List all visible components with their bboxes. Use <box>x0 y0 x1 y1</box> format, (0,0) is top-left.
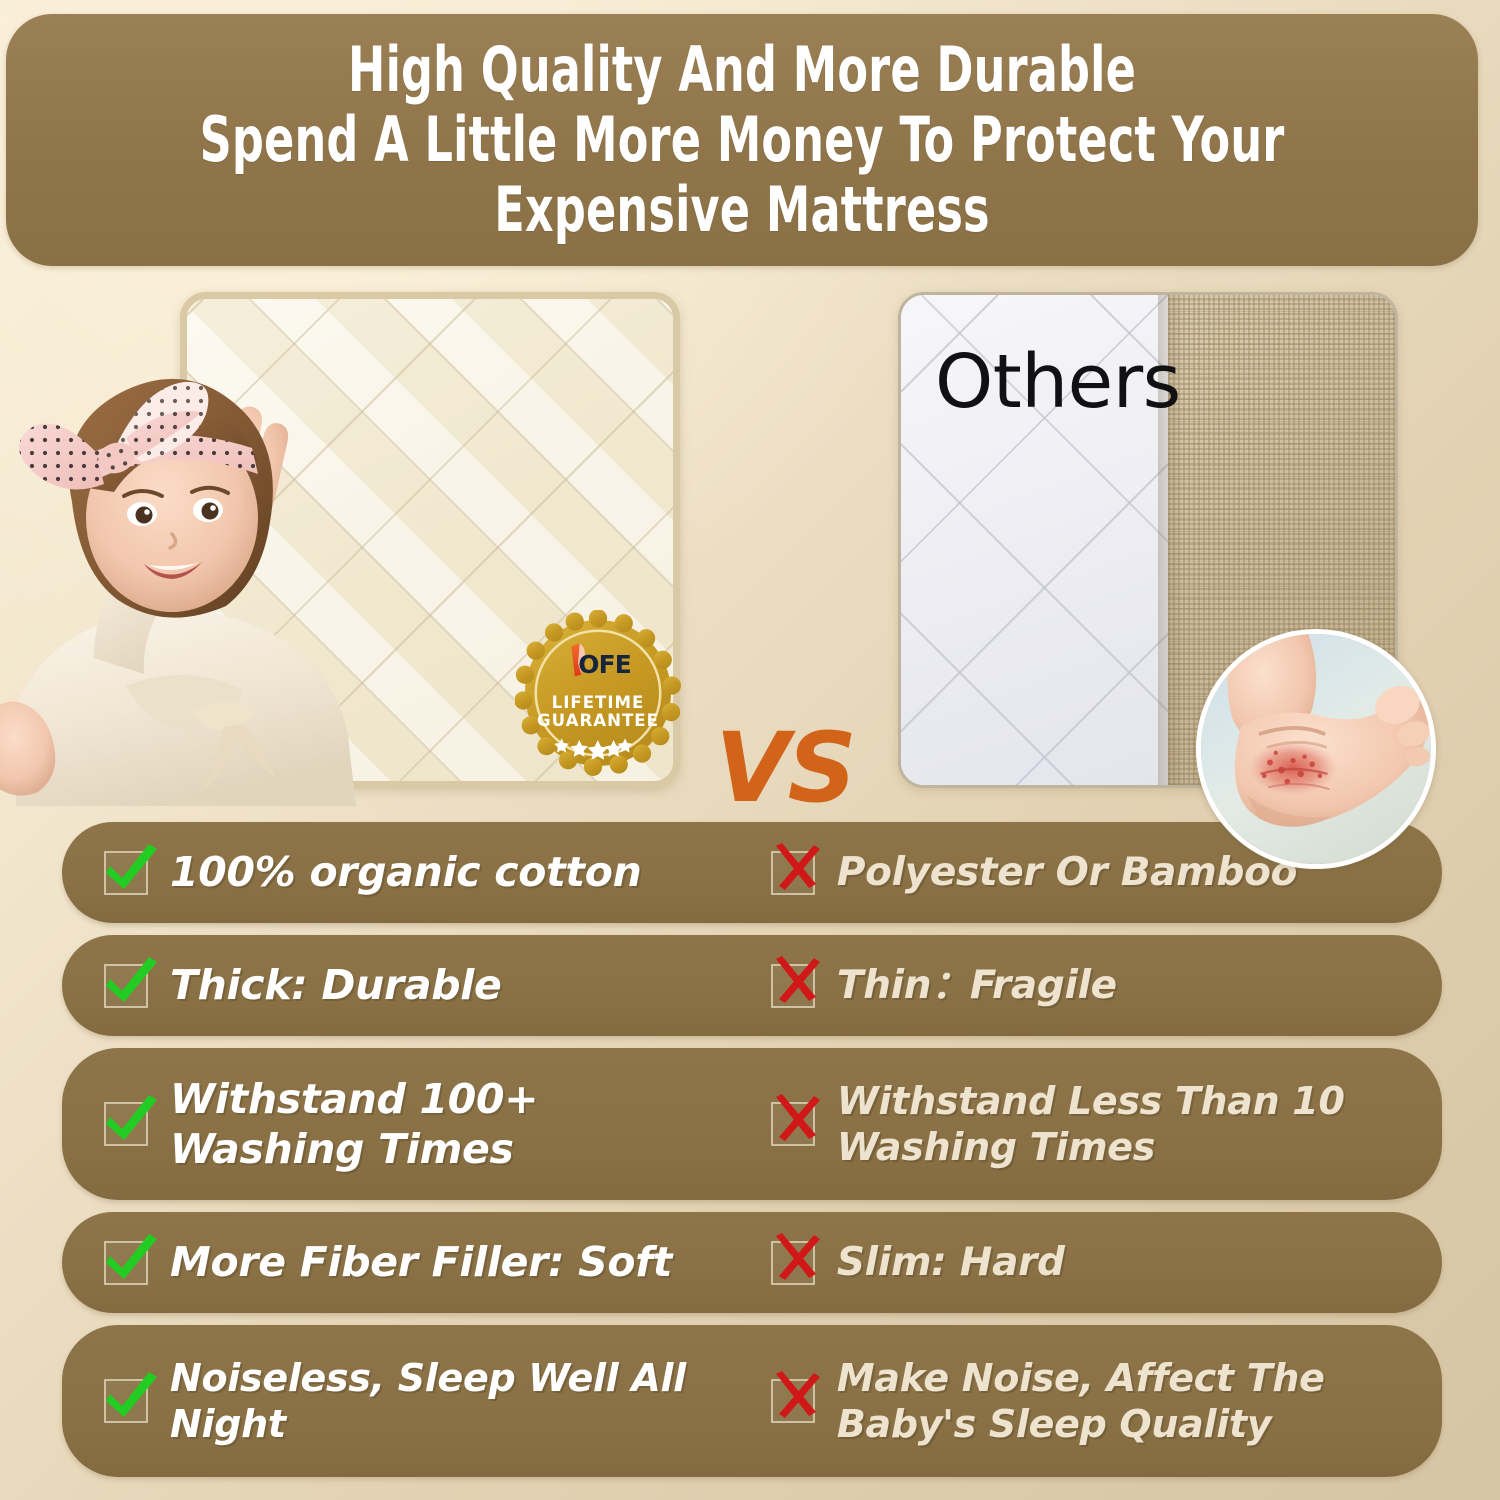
green-check-icon <box>104 1379 148 1423</box>
green-check-icon <box>104 851 148 895</box>
feature-cell-ours: Noiseless, Sleep Well All Night <box>62 1325 759 1477</box>
red-cross-icon <box>771 1102 815 1146</box>
header-banner: High Quality And More Durable Spend A Li… <box>6 14 1478 266</box>
red-cross-icon <box>771 1241 815 1285</box>
feature-cell-others: Withstand Less Than 10 Washing Times <box>759 1048 1442 1200</box>
feature-cell-others: Slim: Hard <box>759 1212 1442 1313</box>
feature-row: Withstand 100+ Washing Times Withstand L… <box>62 1048 1442 1200</box>
feature-row: Thick: Durable Thin：Fragile <box>62 935 1442 1036</box>
vs-label: VS <box>690 712 880 824</box>
feature-label-others: Withstand Less Than 10 Washing Times <box>837 1078 1345 1171</box>
green-check-icon <box>104 1102 148 1146</box>
svg-text:OFE: OFE <box>578 650 631 679</box>
red-cross-icon <box>771 1379 815 1423</box>
others-label: Others <box>935 339 1181 425</box>
feature-label-ours: Thick: Durable <box>170 960 502 1010</box>
feature-label-others: Slim: Hard <box>837 1239 1065 1287</box>
feature-cell-ours: 100% organic cotton <box>62 822 759 923</box>
feature-label-ours: 100% organic cotton <box>170 847 642 897</box>
svg-text:LIFETIME: LIFETIME <box>552 693 645 712</box>
feature-label-ours: More Fiber Filler: Soft <box>170 1237 672 1287</box>
feature-label-others: Polyester Or Bamboo <box>837 849 1297 897</box>
svg-text:GUARANTEE: GUARANTEE <box>537 711 659 730</box>
red-cross-icon <box>771 964 815 1008</box>
page-title: High Quality And More Durable Spend A Li… <box>200 35 1285 245</box>
green-check-icon <box>104 1241 148 1285</box>
lifetime-guarantee-badge: OFE LIFETIME GUARANTEE <box>515 610 681 776</box>
feature-comparison-list: 100% organic cotton Polyester Or Bamboo … <box>62 822 1442 1489</box>
feature-label-others: Make Noise, Affect The Baby's Sleep Qual… <box>837 1355 1325 1448</box>
feature-cell-others: Make Noise, Affect The Baby's Sleep Qual… <box>759 1325 1442 1477</box>
feature-row: More Fiber Filler: Soft Slim: Hard <box>62 1212 1442 1313</box>
green-check-icon <box>104 964 148 1008</box>
feature-label-ours: Withstand 100+ Washing Times <box>170 1074 538 1174</box>
baby-foot-rash-inset-photo <box>1196 629 1436 869</box>
feature-label-ours: Noiseless, Sleep Well All Night <box>170 1355 686 1448</box>
feature-row: Noiseless, Sleep Well All Night Make Noi… <box>62 1325 1442 1477</box>
feature-cell-ours: More Fiber Filler: Soft <box>62 1212 759 1313</box>
comparison-panels: OFE LIFETIME GUARANTEE VS Others <box>0 284 1500 804</box>
feature-cell-ours: Withstand 100+ Washing Times <box>62 1048 759 1200</box>
red-cross-icon <box>771 851 815 895</box>
feature-cell-ours: Thick: Durable <box>62 935 759 1036</box>
feature-label-others: Thin：Fragile <box>837 962 1117 1010</box>
feature-cell-others: Thin：Fragile <box>759 935 1442 1036</box>
